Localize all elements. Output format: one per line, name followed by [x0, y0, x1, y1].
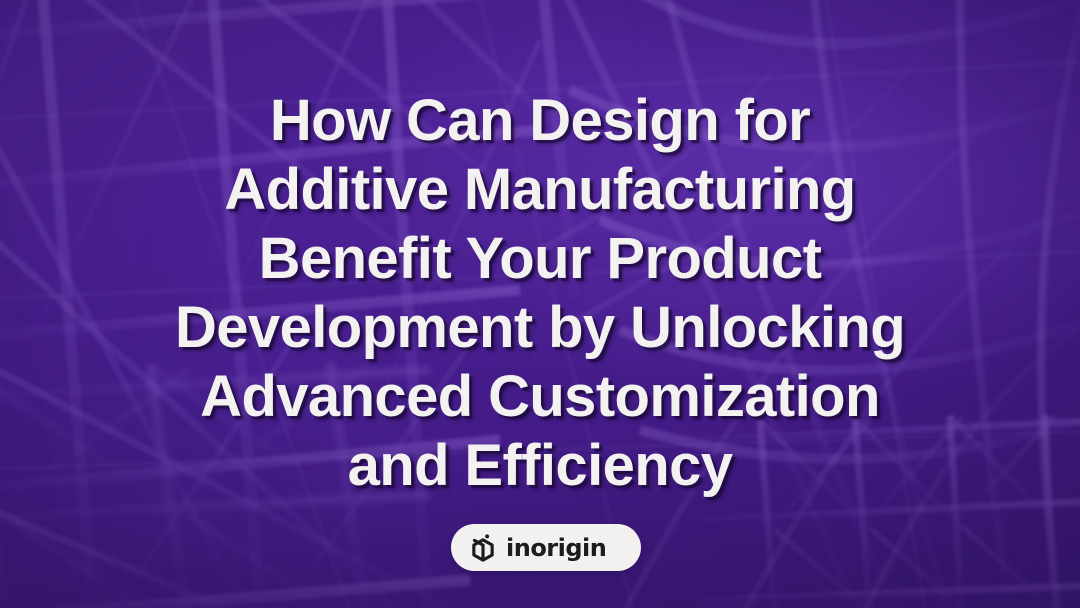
title-line-6: and Efficiency [46, 431, 1034, 500]
brand-logo[interactable]: inorigin [451, 524, 641, 571]
title-line-3: Benefit Your Product [46, 224, 1034, 293]
title-line-1: How Can Design for [46, 86, 1034, 155]
hexagon-cube-icon [468, 533, 498, 563]
title-line-5: Advanced Customization [46, 362, 1034, 431]
title-line-4: Development by Unlocking [46, 293, 1034, 362]
title-line-2: Additive Manufacturing [46, 155, 1034, 224]
brand-wordmark: inorigin [506, 536, 606, 560]
article-hero-banner: How Can Design for Additive Manufacturin… [0, 0, 1080, 608]
page-title: How Can Design for Additive Manufacturin… [0, 86, 1080, 500]
